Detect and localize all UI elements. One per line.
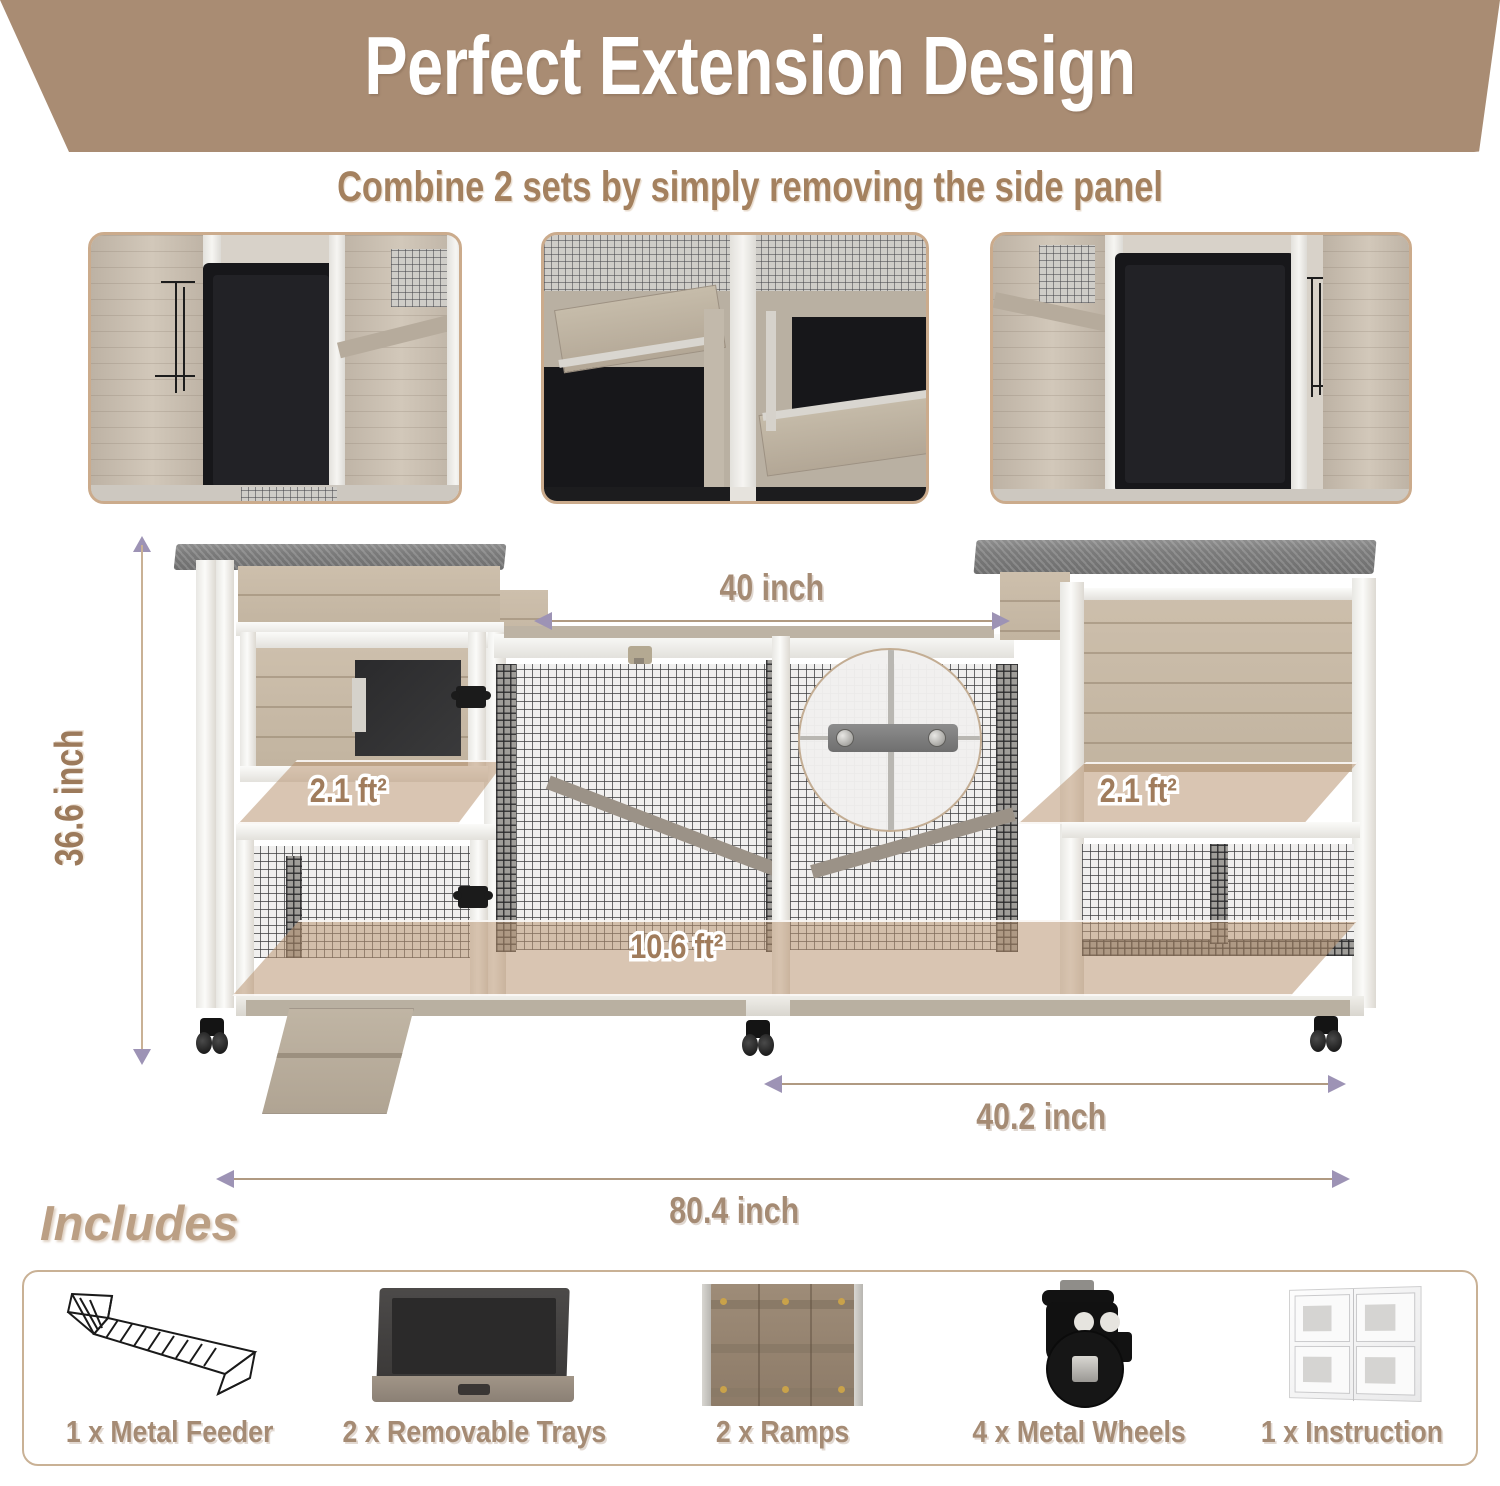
- include-label-instruction: 1 x Instruction: [1224, 1414, 1480, 1450]
- include-label-ramps: 2 x Ramps: [632, 1414, 934, 1450]
- removable-tray-icon: [316, 1280, 632, 1408]
- page-subtitle: Combine 2 sets by simply removing the si…: [150, 163, 1350, 212]
- include-label-metal-wheels: 4 x Metal Wheels: [934, 1414, 1224, 1450]
- metal-wheel-icon: [934, 1280, 1224, 1408]
- include-label-metal-feeder: 1 x Metal Feeder: [24, 1414, 316, 1450]
- height-dimension-line: [141, 545, 143, 1057]
- metal-feeder-icon: [24, 1280, 316, 1408]
- door-hinge-upper: [456, 686, 486, 708]
- external-ramp: [262, 1008, 414, 1114]
- includes-heading: Includes: [40, 1196, 239, 1252]
- ramp-icon: [632, 1280, 934, 1408]
- photo-hutch-interior-left: [88, 232, 462, 504]
- include-item-ramps: 2 x Ramps: [632, 1272, 934, 1468]
- caster-wheel-front-left: [196, 1018, 240, 1062]
- half-width-dimension-line: [782, 1083, 1328, 1085]
- area-overlay-lower-run: [232, 920, 1358, 996]
- include-item-removable-trays: 2 x Removable Trays: [316, 1272, 632, 1468]
- half-width-dimension-label: 40.2 inch: [962, 1096, 1120, 1138]
- gap-width-dimension-line: [552, 620, 992, 622]
- includes-box: 1 x Metal Feeder 2 x Removable Trays: [22, 1270, 1478, 1466]
- include-item-metal-wheels: 4 x Metal Wheels: [934, 1272, 1224, 1468]
- area-label-upper-right: 2.1 ft²: [1093, 772, 1184, 811]
- photo-two-sets-combined: [541, 232, 929, 504]
- total-width-dimension-line: [234, 1178, 1332, 1180]
- door-hinge-lower: [458, 886, 488, 908]
- caster-wheel-mid: [742, 1020, 786, 1064]
- caster-wheel-front-right: [1310, 1016, 1354, 1060]
- include-item-instruction: 1 x Instruction: [1224, 1272, 1480, 1468]
- photo-hutch-interior-right: [990, 232, 1412, 504]
- height-dimension-label: 36.6 inch: [48, 668, 93, 928]
- connector-plate-magnifier: [798, 648, 982, 832]
- include-item-metal-feeder: 1 x Metal Feeder: [24, 1272, 316, 1468]
- total-width-dimension-label: 80.4 inch: [655, 1190, 813, 1232]
- page-title: Perfect Extension Design: [165, 18, 1335, 114]
- height-arrow-bottom: [133, 1049, 151, 1065]
- include-label-removable-trays: 2 x Removable Trays: [316, 1414, 632, 1450]
- plate-screw-right: [928, 729, 946, 747]
- area-label-upper-left: 2.1 ft²: [303, 772, 394, 811]
- plate-screw-left: [836, 729, 854, 747]
- photo-gallery: [0, 232, 1500, 504]
- instruction-icon: [1224, 1280, 1480, 1408]
- area-label-lower-run: 10.6 ft²: [622, 928, 732, 967]
- gap-width-dimension-label: 40 inch: [708, 567, 836, 609]
